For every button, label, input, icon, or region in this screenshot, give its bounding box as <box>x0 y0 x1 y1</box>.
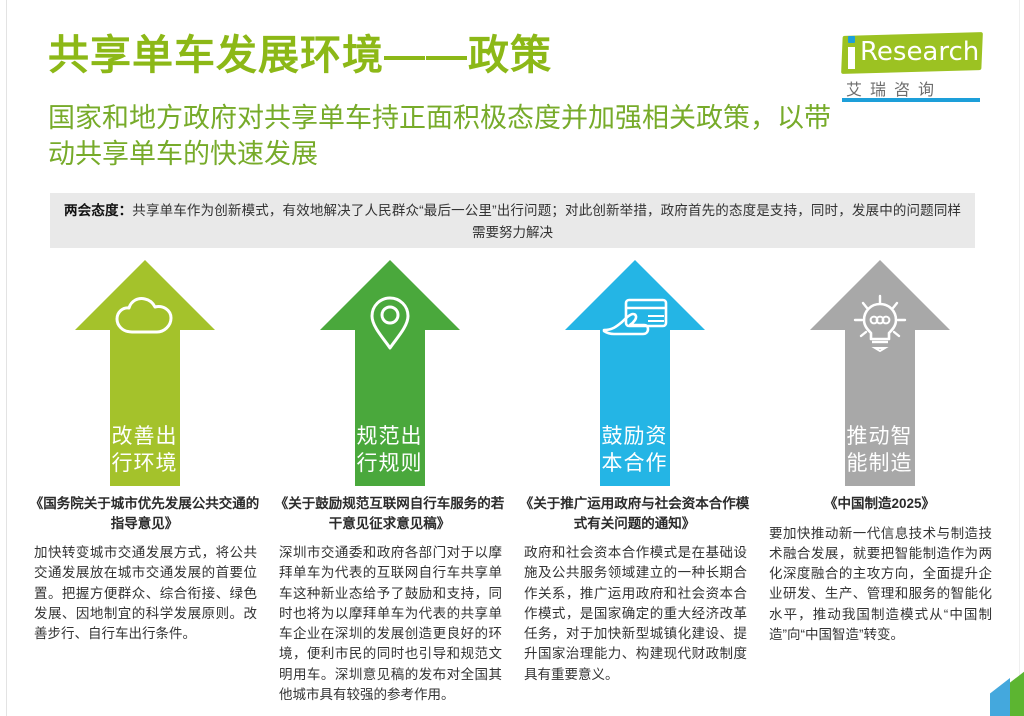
iresearch-logo: Research 艾瑞咨询 <box>834 28 982 100</box>
hand-credit-card-icon <box>564 294 706 344</box>
cloud-icon <box>74 294 216 338</box>
statement-banner-body: 共享单车作为创新模式，有效地解决了人民群众“最后一公里”出行问题；对此创新举措，… <box>132 203 961 240</box>
up-arrow-shape-1: 改善出 行环境 <box>74 258 216 486</box>
logo-i-stem-icon <box>848 47 855 69</box>
right-border-rule <box>1019 0 1020 716</box>
arrow-label-1-line2: 行环境 <box>74 451 216 478</box>
arrow-wrap: 规范出 行规则 <box>267 258 512 488</box>
arrow-wrap: 推动智 能制造 <box>757 258 1002 488</box>
logo-chinese-name: 艾瑞咨询 <box>846 76 942 100</box>
up-arrow-shape-4: 推动智 能制造 <box>809 258 951 486</box>
page-title: 共享单车发展环境——政策 <box>48 34 552 77</box>
arrow-wrap: 鼓励资 本合作 <box>512 258 757 488</box>
arrow-label-4: 推动智 能制造 <box>809 424 951 478</box>
logo-i-dot-icon <box>848 36 855 43</box>
lightbulb-gear-icon <box>809 294 951 352</box>
arrow-wrap: 改善出 行环境 <box>22 258 267 488</box>
left-border-rule <box>6 0 7 716</box>
arrow-label-4-line2: 能制造 <box>809 451 951 478</box>
doc-body-1: 加快转变城市交通发展方式，将公共交通发展放在城市交通发展的首要位 置。把握方便群… <box>22 543 267 644</box>
arrow-label-1: 改善出 行环境 <box>74 424 216 478</box>
doc-body-2: 深圳市交通委和政府各部门对于以摩拜单车为代表的互联网自行车共享单车这种新业态给予… <box>267 543 512 705</box>
arrow-label-3-line2: 本合作 <box>564 451 706 478</box>
arrow-label-2-line1: 规范出 <box>319 424 461 451</box>
up-arrow-shape-2: 规范出 行规则 <box>319 258 461 486</box>
policy-column-smart-manufacturing: 推动智 能制造 《中国制造2025》 要加快推动新一代信息技术与制造技术融合发展… <box>757 258 1002 708</box>
arrow-label-3-line1: 鼓励资 <box>564 424 706 451</box>
logo-underline <box>842 98 980 102</box>
policy-column-regulate-rules: 规范出 行规则 《关于鼓励规范互联网自行车服务的若干意见征求意见稿》 深圳市交通… <box>267 258 512 708</box>
arrow-label-3: 鼓励资 本合作 <box>564 424 706 478</box>
arrow-label-2-line2: 行规则 <box>319 451 461 478</box>
statement-banner-lead: 两会态度： <box>64 203 132 218</box>
corner-decoration <box>940 660 1024 716</box>
policy-column-capital-cooperation: 鼓励资 本合作 《关于推广运用政府与社会资本合作模式有关问题的通知》 政府和社会… <box>512 258 757 708</box>
up-arrow-shape-3: 鼓励资 本合作 <box>564 258 706 486</box>
logo-wordmark: Research <box>860 37 979 67</box>
policy-column-improve-environment: 改善出 行环境 《国务院关于城市优先发展公共交通的指导意见》 加快转变城市交通发… <box>22 258 267 708</box>
doc-title-2: 《关于鼓励规范互联网自行车服务的若干意见征求意见稿》 <box>267 494 512 533</box>
corner-white-triangle <box>940 686 990 716</box>
arrow-label-4-line1: 推动智 <box>809 424 951 451</box>
location-pin-icon <box>319 294 461 352</box>
doc-title-4: 《中国制造2025》 <box>757 494 1002 514</box>
arrow-label-1-line1: 改善出 <box>74 424 216 451</box>
doc-title-3: 《关于推广运用政府与社会资本合作模式有关问题的通知》 <box>512 494 757 533</box>
policy-columns: 改善出 行环境 《国务院关于城市优先发展公共交通的指导意见》 加快转变城市交通发… <box>22 258 1002 708</box>
slide-canvas: 共享单车发展环境——政策 国家和地方政府对共享单车持正面积极态度并加强相关政策，… <box>0 0 1024 716</box>
doc-title-1: 《国务院关于城市优先发展公共交通的指导意见》 <box>22 494 267 533</box>
statement-banner-text: 两会态度：共享单车作为创新模式，有效地解决了人民群众“最后一公里”出行问题；对此… <box>64 200 961 245</box>
doc-body-4: 要加快推动新一代信息技术与制造技术融合发展，就要把智能制造作为两化深度融合的主攻… <box>757 524 1002 646</box>
doc-body-3: 政府和社会资本合作模式是在基础设施及公共服务领域建立的一种长期合作关系，推广运用… <box>512 543 757 685</box>
arrow-label-2: 规范出 行规则 <box>319 424 461 478</box>
page-subtitle: 国家和地方政府对共享单车持正面积极态度并加强相关政策，以带动共享单车的快速发展 <box>48 100 838 173</box>
statement-banner: 两会态度：共享单车作为创新模式，有效地解决了人民群众“最后一公里”出行问题；对此… <box>50 193 975 248</box>
